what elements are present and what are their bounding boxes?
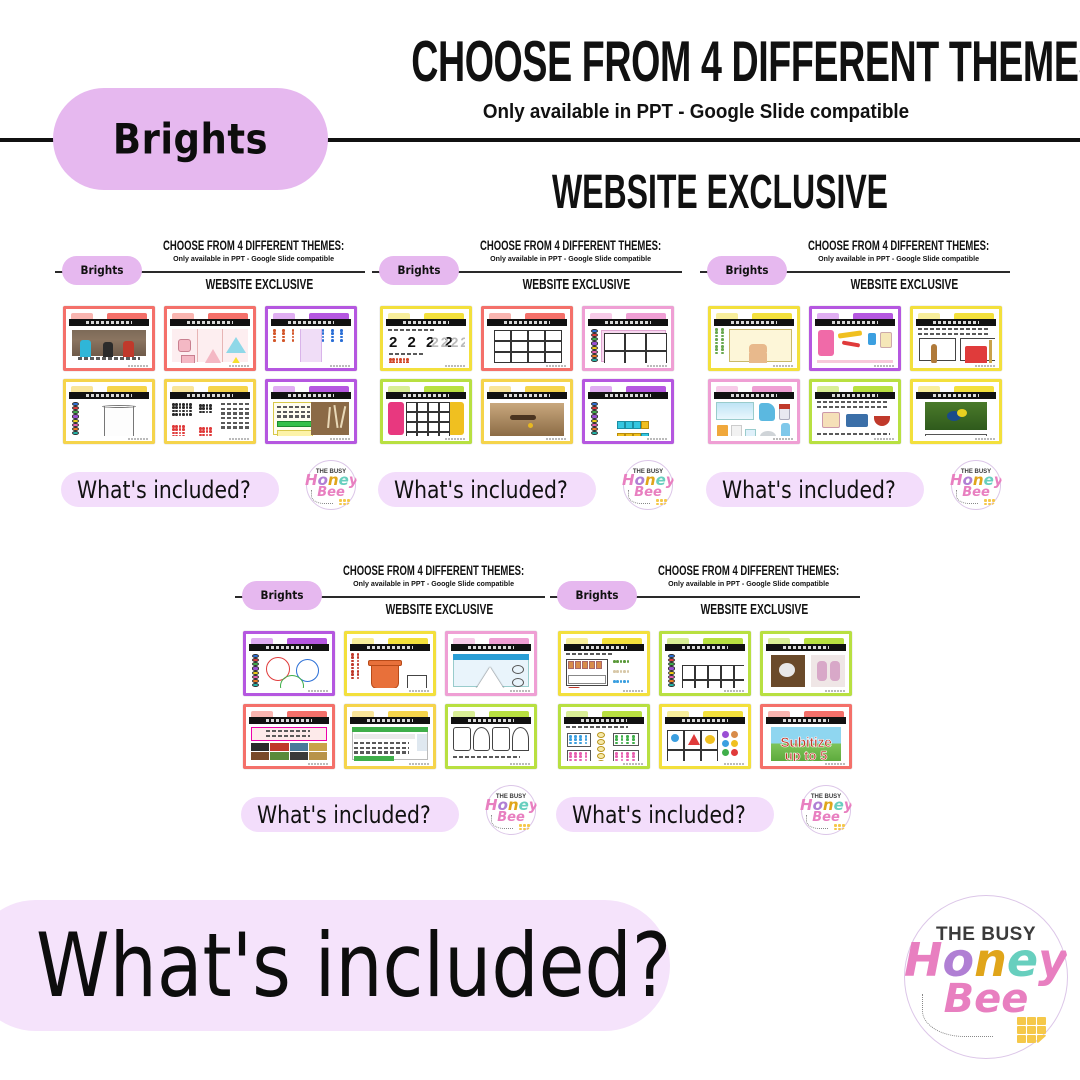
slide-pane	[347, 707, 433, 766]
slide-footer-mark	[874, 438, 894, 441]
slide-title-bar	[564, 717, 644, 724]
slide-thumbnail[interactable]	[164, 379, 256, 444]
slide-thumbnail[interactable]	[582, 379, 674, 444]
preview-card[interactable]: CHOOSE FROM 4 DIFFERENT THEMES: Only ava…	[550, 563, 860, 838]
honeycomb-icon	[1017, 1017, 1046, 1043]
slide-title-bar	[665, 644, 745, 651]
card-theme-pill[interactable]: Brights	[62, 256, 142, 285]
slide-pane	[711, 309, 797, 368]
slide-title-bar	[588, 392, 668, 399]
slide-thumbnail[interactable]	[659, 704, 751, 769]
slide-thumbnail[interactable]	[760, 631, 852, 696]
slide-footer-mark	[724, 763, 744, 766]
slide-title-bar	[69, 392, 149, 399]
slide-footer-mark	[128, 438, 148, 441]
card-theme-pill-label: Brights	[260, 589, 303, 602]
card-brand-logo: THE BUSY Honey Bee	[950, 459, 1002, 511]
slide-title-bar	[249, 644, 329, 651]
slide-title-bar	[386, 319, 466, 326]
preview-card[interactable]: CHOOSE FROM 4 DIFFERENT THEMES: Only ava…	[700, 238, 1010, 513]
slide-title-bar	[271, 392, 351, 399]
slide-pane	[246, 634, 332, 693]
slide-pane	[913, 309, 999, 368]
card-whats-included-banner: What's included?	[61, 472, 279, 507]
website-exclusive-label: WEBSITE EXCLUSIVE	[464, 165, 976, 220]
slide-thumbnail[interactable]	[708, 306, 800, 371]
page-title: CHOOSE FROM 4 DIFFERENT THEMES:	[411, 30, 981, 93]
slide-thumbnail[interactable]	[344, 631, 436, 696]
slide-content-counting-sticks	[272, 401, 350, 436]
card-brand-logo: THE BUSY Honey Bee	[305, 459, 357, 511]
slide-content-subitise-grid	[666, 726, 744, 761]
slide-thumbnail[interactable]	[344, 704, 436, 769]
slide-thumbnail[interactable]	[265, 306, 357, 371]
slide-content-cube-train	[589, 401, 667, 436]
slide-title-bar	[451, 644, 531, 651]
brand-logo: THE BUSY Honey Bee	[902, 893, 1070, 1061]
slide-thumbnail[interactable]	[708, 379, 800, 444]
bee-trail-icon	[311, 490, 333, 504]
slide-thumbnail[interactable]	[164, 306, 256, 371]
slide-pane	[812, 382, 898, 441]
card-website-exclusive-label: WEBSITE EXCLUSIVE	[490, 276, 663, 293]
bee-trail-icon	[956, 490, 978, 504]
slide-pane	[167, 309, 253, 368]
slide-content-classroom-photo	[70, 328, 148, 363]
page-subtitle: Only available in PPT - Google Slide com…	[361, 100, 1030, 124]
theme-pill-brights[interactable]: Brights	[53, 88, 328, 190]
slide-title-bar	[916, 392, 996, 399]
slide-pane	[484, 382, 570, 441]
slide-content-heavier-lighter	[917, 328, 995, 363]
slide-pane: 2 2 2 2 22222	[383, 309, 469, 368]
slide-pane	[763, 634, 849, 693]
slide-thumbnail[interactable]	[445, 631, 537, 696]
slide-title-bar	[588, 319, 668, 326]
slide-content-plant-pot	[351, 653, 429, 688]
slide-content-browser-screen	[351, 726, 429, 761]
slide-content-goldilocks-bowls	[816, 401, 894, 436]
slide-footer-mark	[330, 438, 350, 441]
card-slide-grid	[63, 306, 357, 444]
card-website-exclusive-label: WEBSITE EXCLUSIVE	[353, 601, 526, 618]
slide-thumbnail[interactable]	[481, 379, 573, 444]
honeycomb-icon	[834, 824, 845, 830]
slide-content-hands-photo	[767, 653, 845, 688]
slide-footer-mark	[445, 438, 465, 441]
slide-content-dot-arrays	[171, 401, 249, 436]
slide-title-bar	[766, 644, 846, 651]
slide-thumbnail[interactable]	[558, 631, 650, 696]
card-website-exclusive-label: WEBSITE EXCLUSIVE	[173, 276, 346, 293]
slide-thumbnail[interactable]	[243, 631, 335, 696]
poster-canvas: CHOOSE FROM 4 DIFFERENT THEMES: Only ava…	[0, 0, 1080, 1080]
card-whats-included-label: What's included?	[77, 476, 251, 504]
slide-content-match-patterns	[565, 726, 643, 761]
slide-pane	[585, 382, 671, 441]
slide-title-bar	[170, 392, 250, 399]
slide-thumbnail[interactable]	[63, 379, 155, 444]
slide-thumbnail[interactable]: 2 2 2 2 22222	[380, 306, 472, 371]
slide-title-bar	[271, 319, 351, 326]
slide-title-bar	[766, 717, 846, 724]
card-subtitle: Only available in PPT - Google Slide com…	[641, 579, 855, 588]
slide-thumbnail[interactable]	[809, 306, 901, 371]
slide-content-frog-photo	[917, 401, 995, 436]
slide-pane	[561, 634, 647, 693]
slide-footer-mark	[975, 438, 995, 441]
slide-thumbnail[interactable]	[445, 704, 537, 769]
slide-thumbnail[interactable]	[481, 306, 573, 371]
slide-title-bar	[69, 319, 149, 326]
card-theme-pill[interactable]: Brights	[707, 256, 787, 285]
card-whats-included-banner: What's included?	[241, 797, 459, 832]
slide-title-bar	[487, 392, 567, 399]
slide-thumbnail[interactable]	[63, 306, 155, 371]
slide-pane	[448, 707, 534, 766]
slide-pane	[347, 634, 433, 693]
card-subtitle: Only available in PPT - Google Slide com…	[146, 254, 360, 263]
slide-pane	[268, 382, 354, 441]
slide-content-ten-frame	[666, 653, 744, 688]
slide-footer-mark	[773, 365, 793, 368]
slide-content-photo-collage	[250, 726, 328, 761]
card-slide-grid: Subitize up to 5	[558, 631, 852, 769]
slide-content-six-box-frame	[589, 328, 667, 363]
slide-pane	[246, 707, 332, 766]
slide-footer-mark	[128, 365, 148, 368]
slide-title-bar	[249, 717, 329, 724]
slide-pane	[585, 309, 671, 368]
slide-content-containers-milk	[715, 401, 793, 436]
logo-circle: THE BUSY Honey Bee	[902, 893, 1070, 1061]
slide-pane	[711, 382, 797, 441]
card-theme-pill-label: Brights	[397, 264, 440, 277]
slide-title-bar	[350, 717, 430, 724]
theme-pill-label: Brights	[113, 115, 268, 163]
slide-footer-mark	[825, 690, 845, 693]
whats-included-label: What's included?	[36, 914, 671, 1017]
slide-footer-mark	[724, 690, 744, 693]
honeycomb-icon	[656, 499, 667, 505]
honeycomb-icon	[519, 824, 530, 830]
slide-content-hand-sorting	[715, 328, 793, 363]
slide-title-bar	[916, 319, 996, 326]
slide-footer-mark	[409, 763, 429, 766]
slide-thumbnail[interactable]	[659, 631, 751, 696]
bee-trail-icon	[491, 815, 513, 829]
slide-footer-mark	[510, 690, 530, 693]
slide-footer-mark	[308, 690, 328, 693]
slide-footer-mark	[975, 365, 995, 368]
card-theme-pill[interactable]: Brights	[557, 581, 637, 610]
slide-title-bar	[815, 392, 895, 399]
slide-content-toy-sort-table	[272, 328, 350, 363]
slide-footer-mark	[623, 690, 643, 693]
card-whats-included-label: What's included?	[572, 801, 746, 829]
slide-pane	[812, 309, 898, 368]
bee-trail-icon	[628, 490, 650, 504]
card-theme-pill-label: Brights	[80, 264, 123, 277]
card-brand-logo: THE BUSY Honey Bee	[622, 459, 674, 511]
slide-title-bar	[386, 392, 466, 399]
slide-title-bar	[350, 644, 430, 651]
slide-title-bar	[170, 319, 250, 326]
card-subtitle: Only available in PPT - Google Slide com…	[791, 254, 1005, 263]
card-theme-pill-label: Brights	[725, 264, 768, 277]
slide-footer-mark	[308, 763, 328, 766]
card-title: CHOOSE FROM 4 DIFFERENT THEMES:	[479, 238, 662, 254]
slide-content-pattern-grid	[488, 328, 566, 363]
card-title: CHOOSE FROM 4 DIFFERENT THEMES:	[657, 563, 840, 579]
slide-thumbnail[interactable]	[243, 704, 335, 769]
slide-footer-mark	[409, 690, 429, 693]
slide-footer-mark	[825, 763, 845, 766]
card-whats-included-label: What's included?	[394, 476, 568, 504]
card-brand-logo: THE BUSY Honey Bee	[485, 784, 537, 836]
slide-content-video-embed	[488, 401, 566, 436]
card-theme-pill-label: Brights	[575, 589, 618, 602]
slide-footer-mark	[229, 365, 249, 368]
slide-title-bar	[451, 717, 531, 724]
slide-content-subitize-video: Subitize up to 5	[767, 726, 845, 761]
slide-footer-mark	[647, 438, 667, 441]
slide-pane	[66, 309, 152, 368]
preview-card[interactable]: CHOOSE FROM 4 DIFFERENT THEMES: Only ava…	[55, 238, 365, 513]
slide-title-bar	[815, 319, 895, 326]
card-whats-included-banner: What's included?	[378, 472, 596, 507]
slide-footer-mark	[874, 365, 894, 368]
slide-footer-mark	[773, 438, 793, 441]
slide-title-bar	[487, 319, 567, 326]
slide-footer-mark	[445, 365, 465, 368]
slide-thumbnail[interactable]: Subitize up to 5	[760, 704, 852, 769]
slide-footer-mark	[623, 763, 643, 766]
card-title: CHOOSE FROM 4 DIFFERENT THEMES:	[342, 563, 525, 579]
slide-content-numeral-trace-2: 2 2 2 2 22222	[387, 328, 465, 363]
slide-thumbnail[interactable]	[558, 704, 650, 769]
slide-title-bar	[714, 392, 794, 399]
slide-pane	[448, 634, 534, 693]
card-whats-included-banner: What's included?	[706, 472, 924, 507]
slide-pane	[383, 382, 469, 441]
slide-pane	[662, 707, 748, 766]
card-subtitle: Only available in PPT - Google Slide com…	[326, 579, 540, 588]
card-whats-included-label: What's included?	[257, 801, 431, 829]
slide-pane	[167, 382, 253, 441]
card-website-exclusive-label: WEBSITE EXCLUSIVE	[818, 276, 991, 293]
preview-card[interactable]: CHOOSE FROM 4 DIFFERENT THEMES: Only ava…	[372, 238, 682, 513]
slide-thumbnail[interactable]	[809, 379, 901, 444]
slide-title-bar	[665, 717, 745, 724]
slide-content-school-objects	[816, 328, 894, 363]
slide-footer-mark	[546, 365, 566, 368]
card-title: CHOOSE FROM 4 DIFFERENT THEMES:	[162, 238, 345, 254]
slide-pane	[66, 382, 152, 441]
slide-footer-mark	[510, 763, 530, 766]
slide-content-symmetry-shapes	[452, 726, 530, 761]
card-whats-included-label: What's included?	[722, 476, 896, 504]
slide-thumbnail[interactable]	[910, 379, 1002, 444]
card-slide-grid	[708, 306, 1002, 444]
slide-thumbnail[interactable]	[380, 379, 472, 444]
card-subtitle: Only available in PPT - Google Slide com…	[463, 254, 677, 263]
slide-content-hoop-sorting	[250, 653, 328, 688]
card-whats-included-banner: What's included?	[556, 797, 774, 832]
slide-pane	[268, 309, 354, 368]
slide-pane	[561, 707, 647, 766]
slide-footer-mark	[546, 438, 566, 441]
honeycomb-icon	[339, 499, 350, 505]
slide-content-shape-quiz-screen	[452, 653, 530, 688]
slide-pane	[484, 309, 570, 368]
slide-footer-mark	[229, 438, 249, 441]
slide-content-dice-game	[387, 401, 465, 436]
preview-card[interactable]: CHOOSE FROM 4 DIFFERENT THEMES: Only ava…	[235, 563, 545, 838]
slide-title-bar	[564, 644, 644, 651]
slide-thumbnail[interactable]	[265, 379, 357, 444]
whats-included-banner: What's included?	[0, 900, 670, 1031]
slide-title-bar	[714, 319, 794, 326]
slide-content-glass-capacity	[70, 401, 148, 436]
slide-content-shape-sort-table	[171, 328, 249, 363]
card-theme-pill[interactable]: Brights	[242, 581, 322, 610]
slide-footer-mark	[330, 365, 350, 368]
slide-pane	[913, 382, 999, 441]
card-website-exclusive-label: WEBSITE EXCLUSIVE	[668, 601, 841, 618]
slide-footer-mark	[647, 365, 667, 368]
card-brand-logo: THE BUSY Honey Bee	[800, 784, 852, 836]
slide-thumbnail[interactable]	[582, 306, 674, 371]
slide-pane: Subitize up to 5	[763, 707, 849, 766]
card-theme-pill[interactable]: Brights	[379, 256, 459, 285]
card-slide-grid	[243, 631, 537, 769]
honeycomb-icon	[984, 499, 995, 505]
card-title: CHOOSE FROM 4 DIFFERENT THEMES:	[807, 238, 990, 254]
card-slide-grid: 2 2 2 2 22222	[380, 306, 674, 444]
slide-pane	[662, 634, 748, 693]
bee-trail-icon	[806, 815, 828, 829]
slide-content-order-numbers	[565, 653, 643, 688]
slide-thumbnail[interactable]	[910, 306, 1002, 371]
